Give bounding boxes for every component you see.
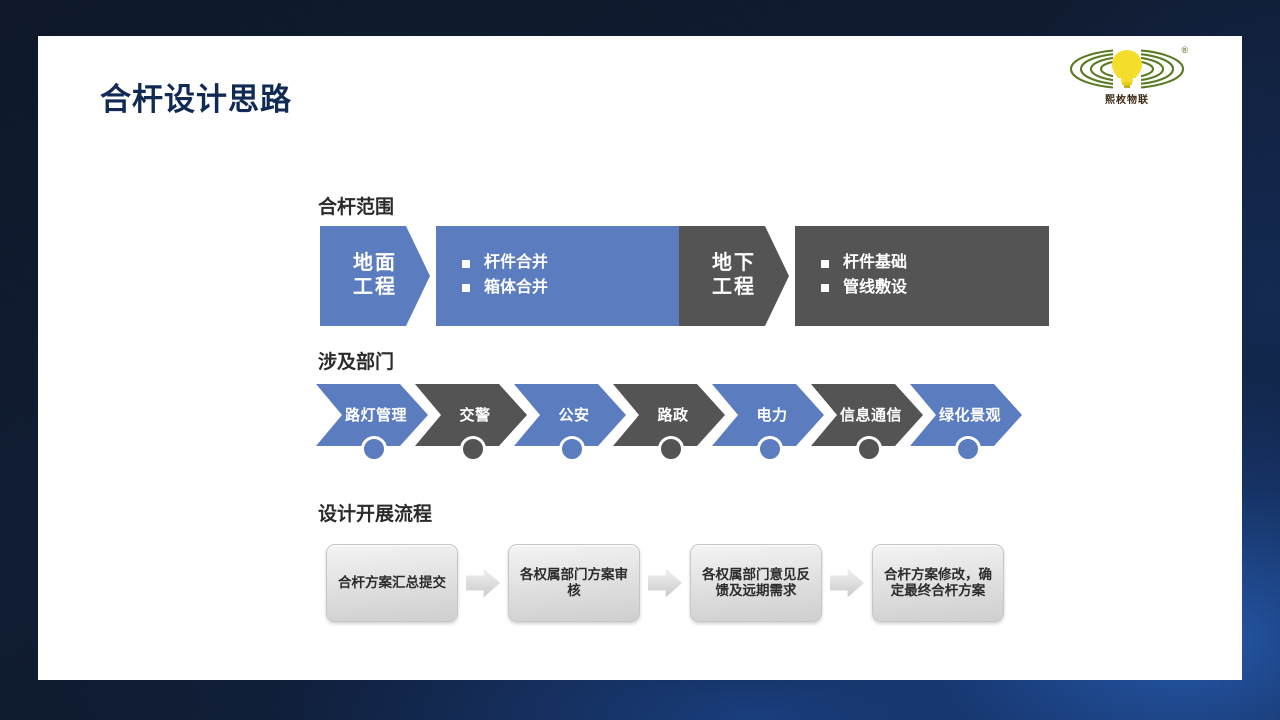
flow-step-box[interactable]: 合杆方案修改，确定最终合杆方案 — [872, 544, 1004, 622]
slide-root: 合杆设计思路 ® 熙枚物联 合杆范围 — [0, 0, 1280, 720]
flow-section: 设计开展流程 合杆方案汇总提交各权属部门方案审核各权属部门意见反馈及远期需求合杆… — [38, 36, 1242, 680]
slide-content-card: 合杆设计思路 ® 熙枚物联 合杆范围 — [38, 36, 1242, 680]
flow-step-row: 合杆方案汇总提交各权属部门方案审核各权属部门意见反馈及远期需求合杆方案修改，确定… — [326, 544, 1004, 622]
flow-arrow-icon — [466, 568, 500, 598]
flow-arrow-icon — [648, 568, 682, 598]
flow-step-box[interactable]: 合杆方案汇总提交 — [326, 544, 458, 622]
flow-arrow-icon — [830, 568, 864, 598]
flow-section-heading: 设计开展流程 — [318, 499, 432, 526]
flow-step-box[interactable]: 各权属部门意见反馈及远期需求 — [690, 544, 822, 622]
flow-step-box[interactable]: 各权属部门方案审核 — [508, 544, 640, 622]
